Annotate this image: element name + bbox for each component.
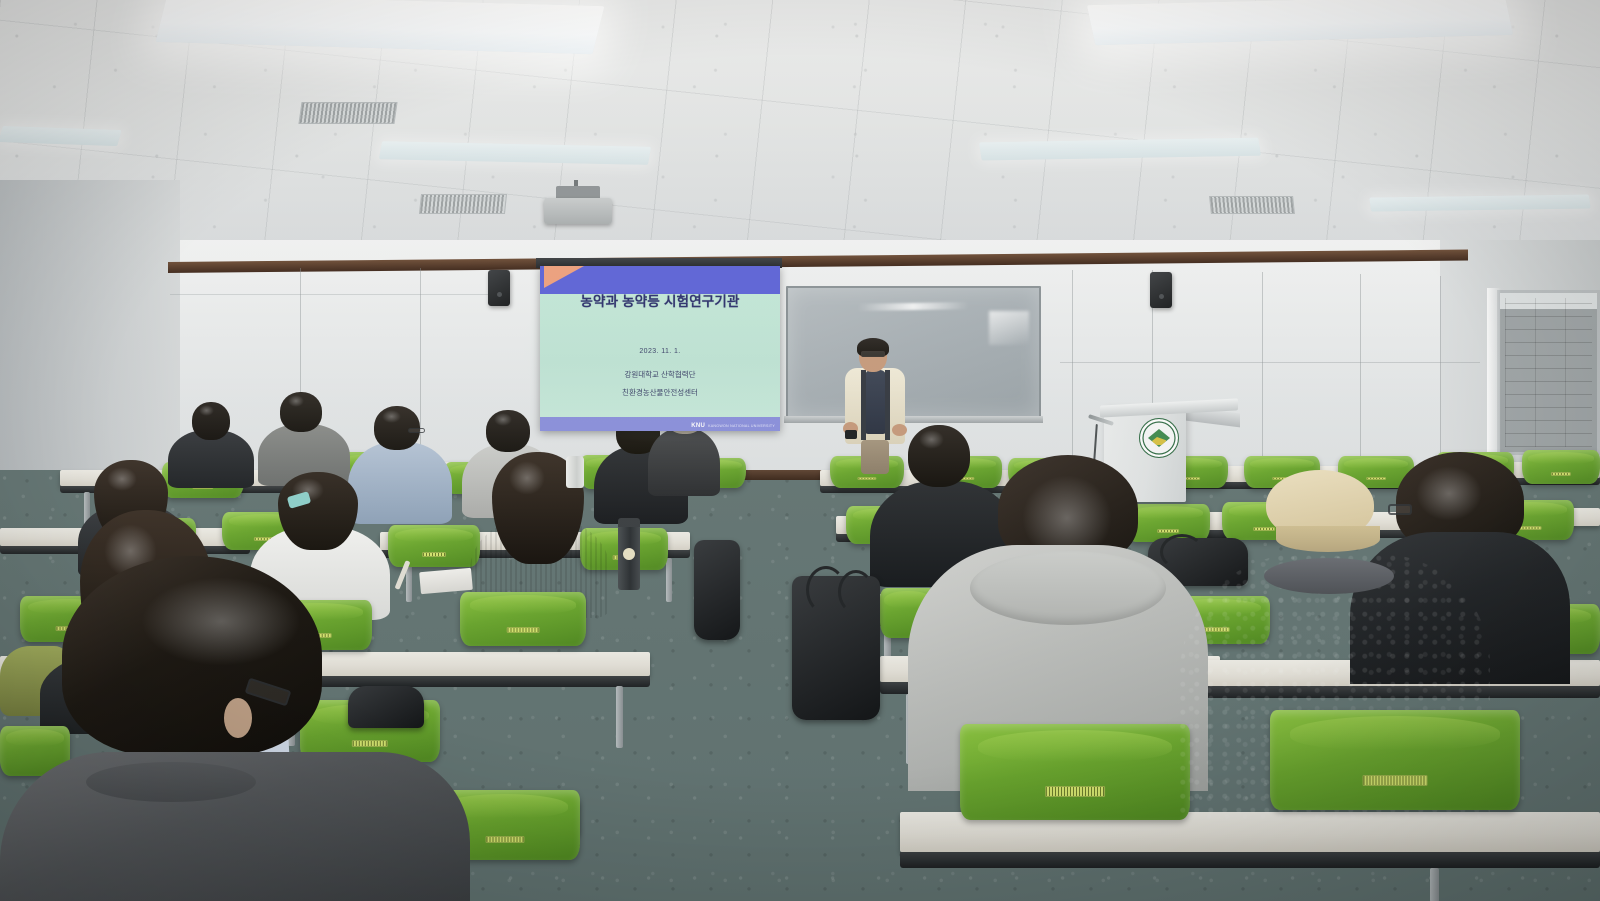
jacket-collar [86,762,256,802]
chair [1270,710,1520,810]
chair-badge [486,836,525,844]
student-long-hair-knit [470,452,610,612]
presenter-trousers [861,440,889,474]
slide-accent-triangle [544,266,584,288]
hair-highlight [509,461,546,495]
projection-screen: 농약과 농약등 시험연구기관 2023. 11. 1. 강원대학교 산학협력단 … [540,266,780,431]
hair-highlight [141,577,301,667]
desk-edge [900,852,1600,868]
window-glass-brick-view [1505,298,1592,447]
wall-panel-seam [1440,276,1441,456]
hair-highlight [919,430,944,449]
chair [460,592,586,646]
wall-panel-seam [1262,272,1263,472]
projector [544,198,612,224]
backpack-strap [838,570,874,614]
chair-badge [1045,786,1105,797]
emblem-inner-shape [1148,429,1170,447]
presenter-cardigan-edge-right [885,370,890,440]
slide-title: 농약과 농약등 시험연구기관 [540,290,780,310]
wall-panel-seam [1360,274,1361,464]
chair-badge [1363,775,1428,786]
whiteboard-tray [784,416,1043,423]
university-logo: KNU KANGWON NATIONAL UNIVERSITY [691,423,775,429]
ceiling-vent-3 [1209,196,1295,214]
logo-mark: KNU [691,423,705,429]
wall-speaker-right [1150,272,1172,308]
ear [224,698,252,738]
fleece-collar [1264,558,1394,594]
head [486,410,530,452]
head [192,402,230,440]
desk-leg [616,686,623,748]
desk-leg [666,558,672,602]
board-glare [989,311,1029,345]
presenter-remote [845,430,857,439]
slide-date: 2023. 11. 1. [540,348,780,355]
hair [278,472,358,550]
hair-highlight [199,405,214,416]
slide-footer-bar: KNU KANGWON NATIONAL UNIVERSITY [540,417,780,431]
backpack-right-desk [694,540,740,640]
university-emblem-icon [1139,418,1179,458]
chair-badge [507,627,540,633]
bottle-sticker [623,548,635,560]
hair-highlight [494,413,512,426]
presenter [845,340,905,472]
student-gray-jacket-foreground [0,556,470,901]
desk-leg [1430,868,1439,901]
hood [970,551,1166,625]
hair-highlight [382,410,400,423]
presenter-shirt [865,370,886,434]
board-glare [858,302,969,311]
wall-speaker-left [488,270,510,306]
window [1497,290,1600,455]
logo-text: KANGWON NATIONAL UNIVERSITY [708,424,775,428]
chair [960,724,1190,820]
cap-brim [1276,526,1380,552]
glasses-icon [408,428,425,433]
slide-org-line-2: 친환경농산물안전성센터 [540,387,780,398]
wall-panel-seam-h [170,294,500,295]
hair-highlight [288,395,305,407]
hair-highlight [107,467,137,492]
wall-panel-seam-h [1060,362,1480,363]
presenter-cardigan-edge-left [861,370,866,440]
bottle-white [566,456,584,488]
slide-body [540,294,780,417]
head [280,392,322,432]
window-light-spill [1487,288,1501,458]
torso [648,428,720,496]
bottle-cap [618,518,640,527]
ceiling-vent-1 [298,102,397,124]
ceiling-vent-2 [419,194,507,214]
presenter-right-hand [892,424,907,436]
whiteboard [786,286,1041,418]
slide-org-line-1: 강원대학교 산학협력단 [540,369,780,380]
classroom-photo: 농약과 농약등 시험연구기관 2023. 11. 1. 강원대학교 산학협력단 … [0,0,1600,901]
presenter-glasses [861,351,885,357]
